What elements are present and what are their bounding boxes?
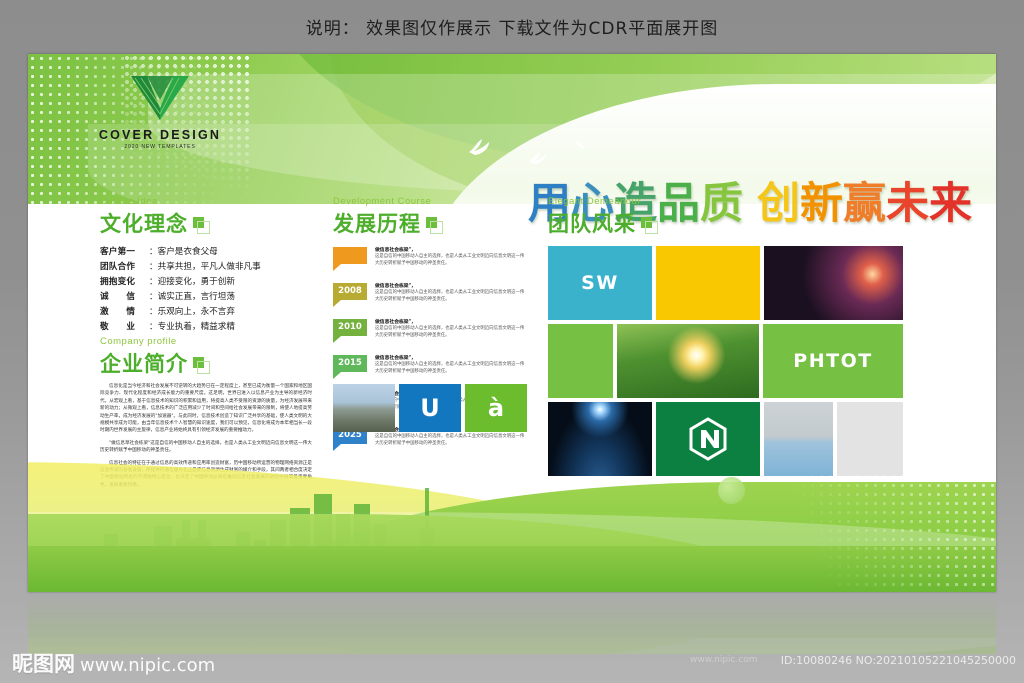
profile-section-en: Company profile bbox=[100, 336, 312, 347]
watermark-brand: 昵图网 www.nipic.com bbox=[12, 648, 215, 678]
timeline-heading: 做信息社会栋梁"， bbox=[375, 319, 528, 326]
culture-item: 激 情：乐观向上，永不言弃 bbox=[100, 305, 312, 320]
timeline-body: 这是自信的中国移动人自主的选择，也是人类从工业文明迈向信息文明这一伟大历史转折赋… bbox=[375, 254, 528, 267]
logo-subtitle: 2020 NEW TEMPLATES bbox=[90, 144, 230, 150]
culture-section-en: Culture Idea bbox=[100, 196, 312, 207]
culture-item-value: ：迎接变化，勇于创新 bbox=[149, 275, 235, 290]
watermark-brand-en: www.nipic.com bbox=[80, 655, 215, 676]
square-accent-icon bbox=[193, 357, 206, 370]
a-glyph-tile-label: à bbox=[465, 384, 527, 432]
dove-icon bbox=[573, 138, 587, 151]
culture-item: 客户第一：客户是衣食父母 bbox=[100, 245, 312, 260]
u-glyph-tile: U bbox=[399, 384, 461, 432]
timeline-entry: 2008做信息社会栋梁"，这是自信的中国移动人自主的选择，也是人类从工业文明迈向… bbox=[333, 283, 528, 317]
timeline-year-badge: 2010 bbox=[333, 319, 367, 336]
team-section: Elegant Demeanour 团队风采 SWPHTOT bbox=[548, 196, 908, 238]
timeline-heading: 做信息社会栋梁"， bbox=[375, 283, 528, 290]
culture-item: 团队合作：共享共担，平凡人做非凡事 bbox=[100, 260, 312, 275]
forest-photo bbox=[617, 324, 759, 398]
dove-icon bbox=[468, 136, 494, 156]
sw-label-tile: SW bbox=[548, 246, 652, 320]
green-tile bbox=[548, 324, 613, 398]
culture-item-value: ：诚实正直，言行坦荡 bbox=[149, 290, 235, 305]
bottom-landscape bbox=[28, 442, 996, 592]
cityscape-photo bbox=[333, 384, 395, 432]
square-accent-icon bbox=[641, 217, 654, 230]
culture-item-key: 客户第一 bbox=[100, 245, 149, 260]
timeline-entry: 2010做信息社会栋梁"，这是自信的中国移动人自主的选择，也是人类从工业文明迈向… bbox=[333, 319, 528, 353]
yellow-tile bbox=[656, 246, 760, 320]
development-tile-row: Uà bbox=[333, 384, 527, 432]
phtot-label-tile-label: PHTOT bbox=[763, 324, 903, 398]
profile-paragraph: 信息化是当今经济和社会发展不可逆转的大趋势已在一定程度上，甚至已成为衡量一个国家… bbox=[100, 383, 312, 435]
halftone-dots-bottom bbox=[736, 472, 996, 592]
culture-item: 拥抱变化：迎接变化，勇于创新 bbox=[100, 275, 312, 290]
development-title-text: 发展历程 bbox=[333, 208, 421, 238]
poster-canvas: COVER DESIGN 2020 NEW TEMPLATES 用心造品质 创新… bbox=[28, 54, 996, 592]
culture-item: 敬 业：专业执着，精益求精 bbox=[100, 320, 312, 335]
culture-item-key: 拥抱变化 bbox=[100, 275, 149, 290]
watermark-id: ID:10080246 NO:20210105221045250000 bbox=[781, 654, 1016, 667]
timeline-body: 这是自信的中国移动人自主的选择，也是人类从工业文明迈向信息文明这一伟大历史转折赋… bbox=[375, 362, 528, 375]
team-section-title: 团队风采 bbox=[548, 208, 908, 238]
culture-item-value: ：乐观向上，永不言弃 bbox=[149, 305, 235, 320]
sw-label-tile-label: SW bbox=[548, 246, 652, 320]
watermark-center: www.nipic.com bbox=[690, 655, 758, 665]
phtot-label-tile: PHTOT bbox=[763, 324, 903, 398]
profile-title-text: 企业简介 bbox=[100, 348, 188, 378]
dove-icon bbox=[528, 150, 548, 165]
timeline-body: 这是自信的中国移动人自主的选择，也是人类从工业文明迈向信息文明这一伟大历史转折赋… bbox=[375, 290, 528, 303]
development-section-title: 发展历程 bbox=[333, 208, 528, 238]
timeline-heading: 做信息社会栋梁"， bbox=[375, 247, 528, 254]
headline-char-10: 来 bbox=[929, 176, 972, 232]
culture-item-key: 团队合作 bbox=[100, 260, 149, 275]
culture-title-text: 文化理念 bbox=[100, 208, 188, 238]
timeline-text: 做信息社会栋梁"，这是自信的中国移动人自主的选择，也是人类从工业文明迈向信息文明… bbox=[375, 247, 528, 267]
timeline-year-badge: 2015 bbox=[333, 355, 367, 372]
culture-item-key: 激 情 bbox=[100, 305, 149, 320]
square-accent-icon bbox=[193, 217, 206, 230]
culture-section-title: 文化理念 bbox=[100, 208, 312, 238]
timeline-year-badge bbox=[333, 247, 367, 264]
reflection-inner bbox=[28, 592, 996, 654]
u-glyph-tile-label: U bbox=[399, 384, 461, 432]
square-accent-icon bbox=[426, 217, 439, 230]
watermark-brand-cn: 昵图网 bbox=[12, 648, 75, 678]
culture-section: Culture Idea 文化理念 客户第一：客户是衣食父母团队合作：共享共担，… bbox=[100, 196, 312, 335]
profile-section-title: 企业简介 bbox=[100, 348, 312, 378]
logo-title: COVER DESIGN bbox=[90, 128, 230, 142]
culture-item-value: ：共享共担，平凡人做非凡事 bbox=[149, 260, 261, 275]
timeline-text: 做信息社会栋梁"，这是自信的中国移动人自主的选择，也是人类从工业文明迈向信息文明… bbox=[375, 283, 528, 303]
team-title-text: 团队风采 bbox=[548, 208, 636, 238]
timeline-text: 做信息社会栋梁"，这是自信的中国移动人自主的选择，也是人类从工业文明迈向信息文明… bbox=[375, 355, 528, 375]
culture-item-key: 诚 信 bbox=[100, 290, 149, 305]
top-caption: 说明： 效果图仅作展示 下载文件为CDR平面展开图 bbox=[0, 14, 1024, 39]
timeline-year-badge: 2008 bbox=[333, 283, 367, 300]
timeline-entry: 做信息社会栋梁"，这是自信的中国移动人自主的选择，也是人类从工业文明迈向信息文明… bbox=[333, 247, 528, 281]
brand-logo: COVER DESIGN 2020 NEW TEMPLATES bbox=[90, 74, 230, 150]
timeline-heading: 做信息社会栋梁"， bbox=[375, 355, 528, 362]
photo-grid-row: PHTOT bbox=[548, 324, 903, 398]
photo-grid-row: SW bbox=[548, 246, 903, 320]
timeline-text: 做信息社会栋梁"，这是自信的中国移动人自主的选择，也是人类从工业文明迈向信息文明… bbox=[375, 319, 528, 339]
culture-item-value: ：客户是衣食父母 bbox=[149, 245, 218, 260]
culture-list: 客户第一：客户是衣食父母团队合作：共享共担，平凡人做非凡事拥抱变化：迎接变化，勇… bbox=[100, 245, 312, 335]
a-glyph-tile: à bbox=[465, 384, 527, 432]
team-section-en: Elegant Demeanour bbox=[548, 196, 908, 207]
development-section: Development Course 发展历程 做信息社会栋梁"，这是自信的中国… bbox=[333, 196, 528, 463]
culture-item-value: ：专业执着，精益求精 bbox=[149, 320, 235, 335]
poster-reflection bbox=[28, 592, 996, 654]
culture-item-key: 敬 业 bbox=[100, 320, 149, 335]
culture-item: 诚 信：诚实正直，言行坦荡 bbox=[100, 290, 312, 305]
galaxy-photo bbox=[764, 246, 903, 320]
w-monogram-icon bbox=[129, 74, 191, 120]
timeline-body: 这是自信的中国移动人自主的选择，也是人类从工业文明迈向信息文明这一伟大历史转折赋… bbox=[375, 326, 528, 339]
development-section-en: Development Course bbox=[333, 196, 528, 207]
